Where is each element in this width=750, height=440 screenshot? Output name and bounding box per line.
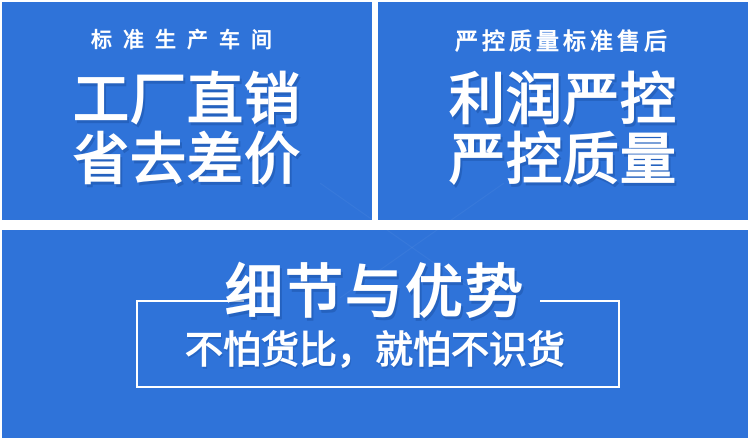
panel-quality-control: 严控质量标准售后 利润严控 严控质量 [378,2,748,220]
right-panel-headline-line-1: 利润严控 [378,70,748,130]
left-panel-headline-line-1: 工厂直销 [2,70,372,130]
bottom-panel-subtitle: 不怕货比，就怕不识货 [2,330,748,372]
left-panel-headline: 工厂直销 省去差价 [2,70,372,190]
right-panel-eyebrow-row: 严控质量标准售后 [378,30,748,54]
frame-bottom-edge [136,386,620,388]
left-panel-eyebrow: 标准生产车间 [91,29,283,52]
right-panel-headline: 利润严控 严控质量 [378,70,748,190]
left-panel-eyebrow-row: 标准生产车间 [2,30,372,52]
right-panel-eyebrow: 严控质量标准售后 [455,28,671,54]
bottom-panel-title: 细节与优势 [2,262,748,324]
right-panel-headline-line-2: 严控质量 [378,130,748,190]
panel-factory-direct: 标准生产车间 工厂直销 省去差价 [2,2,372,220]
panel-details-and-advantages: 细节与优势 不怕货比，就怕不识货 [2,230,748,438]
promo-banner: 标准生产车间 工厂直销 省去差价 严控质量标准售后 利润严控 严控质量 细节与优… [0,0,750,440]
left-panel-headline-line-2: 省去差价 [2,130,372,190]
